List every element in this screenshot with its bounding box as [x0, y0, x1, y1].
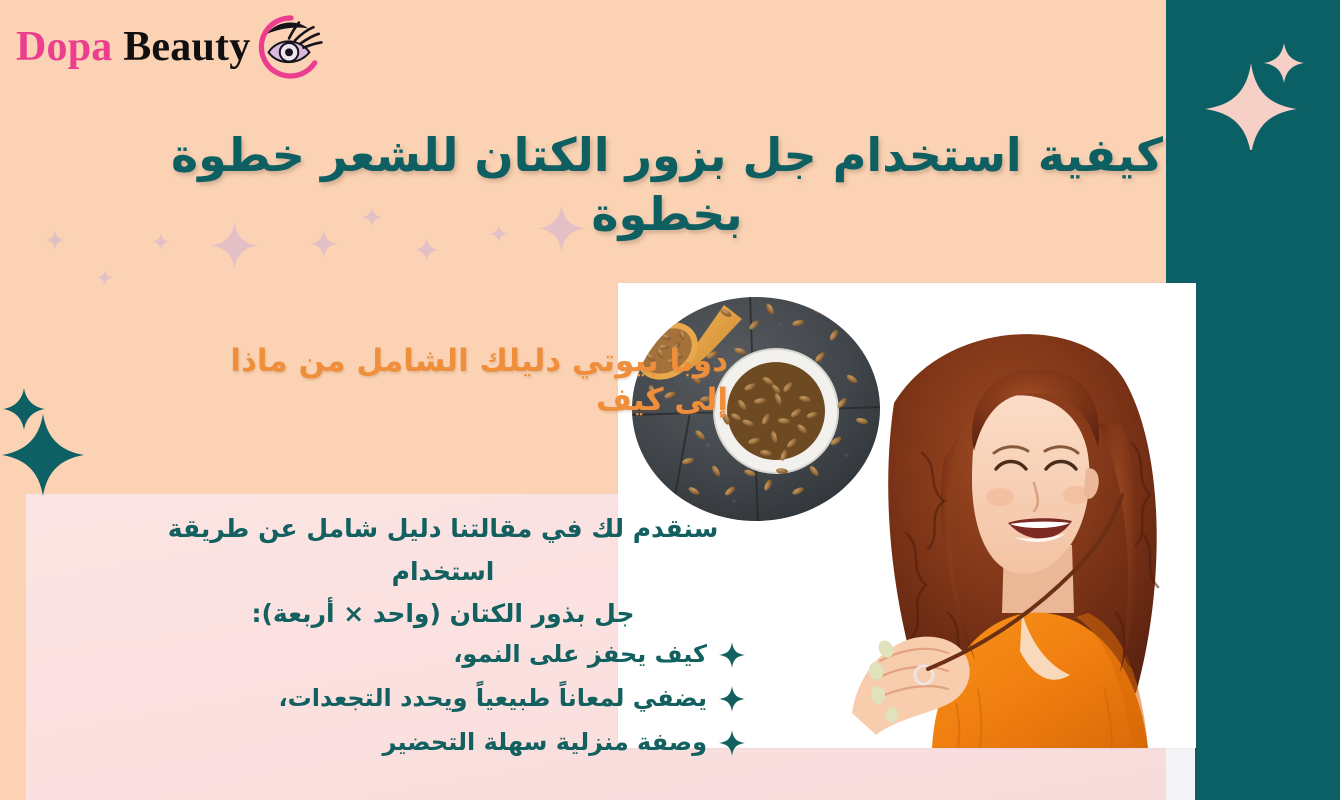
list-item: يضفي لمعاناً طبيعياً ويحدد التجعدات، [305, 678, 745, 719]
four-point-star-icon [719, 686, 745, 712]
pink-sparkle-pair [1205, 35, 1315, 154]
poster-canvas: Dopa Beauty كيفية استخدام جل بزور الكتان… [0, 0, 1340, 800]
eye-with-lashes-icon [258, 14, 324, 80]
list-item-label: كيف يحفز على النمو، [453, 640, 707, 669]
brand-name-primary: Dopa [16, 24, 113, 70]
brand-logo[interactable]: Dopa Beauty [16, 14, 324, 80]
four-point-star-icon [719, 730, 745, 756]
list-item-label: وصفة منزلية سهلة التحضير [383, 728, 707, 757]
brand-name-secondary: Beauty [123, 24, 250, 70]
brand-wordmark: Dopa Beauty [16, 23, 250, 71]
teal-bottom-block [1195, 748, 1340, 800]
list-item: كيف يحفز على النمو، [305, 634, 745, 675]
benefits-list: كيف يحفز على النمو، يضفي لمعاناً طبيعياً… [305, 634, 745, 766]
intro-paragraph: سنقدم لك في مقالتنا دليل شامل عن طريقة ا… [160, 508, 726, 636]
intro-line-2: جل بذور الكتان (واحد × أربعة): [160, 593, 726, 636]
teal-sparkle-pair [2, 386, 98, 506]
page-title: كيفية استخدام جل بزور الكتان للشعر خطوة … [162, 126, 1172, 244]
subtitle: دوبا بيوتي دليلك الشامل من ماذا إلى كيف [168, 342, 728, 420]
list-item: وصفة منزلية سهلة التحضير [305, 722, 745, 763]
woman-photo [836, 283, 1196, 748]
four-point-star-icon [719, 642, 745, 668]
intro-line-1: سنقدم لك في مقالتنا دليل شامل عن طريقة ا… [160, 508, 726, 593]
list-item-label: يضفي لمعاناً طبيعياً ويحدد التجعدات، [279, 684, 707, 713]
